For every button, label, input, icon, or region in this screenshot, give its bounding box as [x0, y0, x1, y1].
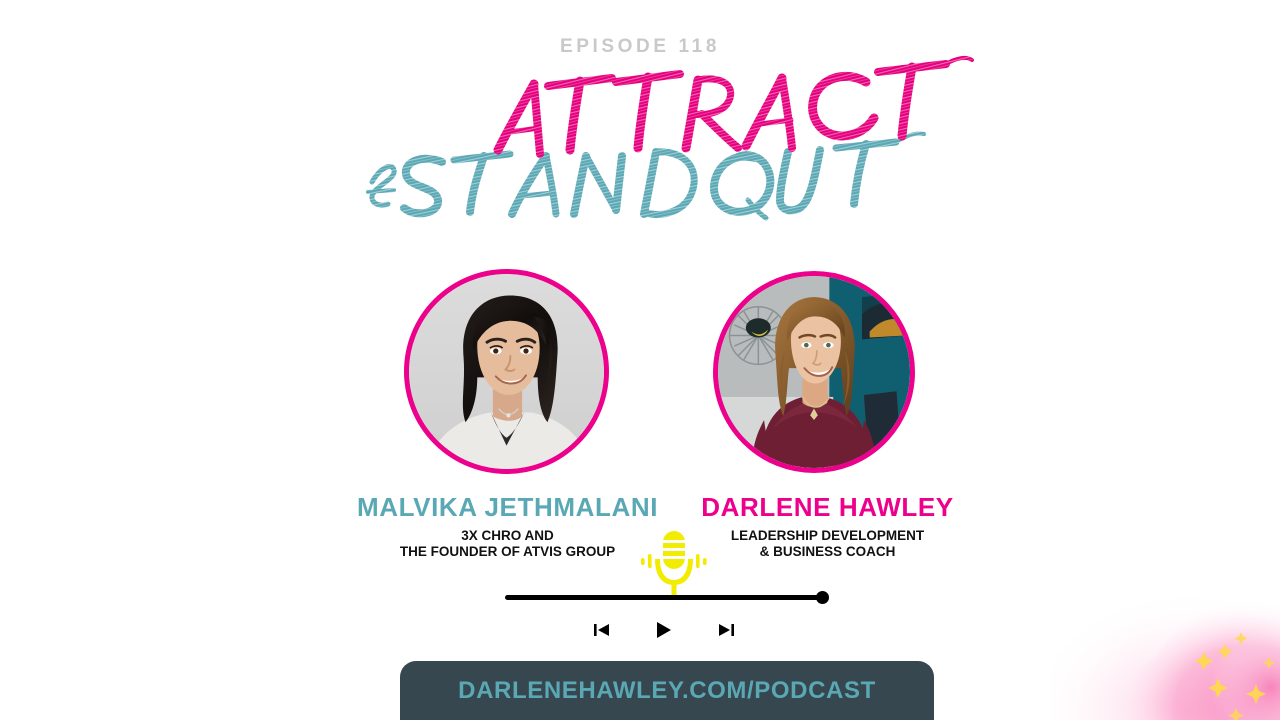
podcast-url-text: DARLENEHAWLEY.COM/PODCAST [458, 677, 876, 705]
previous-track-icon[interactable] [590, 618, 614, 642]
guest-name-2: DARLENE HAWLEY [650, 492, 1005, 523]
avatar-darlene-hawley [713, 271, 915, 473]
sparkle-stars [1195, 632, 1275, 720]
pink-watercolor-corner [1050, 545, 1280, 720]
microphone-icon [641, 528, 707, 596]
avatar-malvika-jethmalani [404, 269, 609, 474]
show-title-artwork [350, 50, 990, 225]
progress-bar-track[interactable] [505, 595, 823, 600]
play-icon[interactable] [652, 618, 676, 642]
progress-bar-knob[interactable] [816, 591, 829, 604]
title-line1-strokes [498, 58, 972, 154]
player-controls [505, 618, 823, 642]
podcast-episode-graphic: EPISODE 118 [0, 0, 1280, 720]
next-track-icon[interactable] [714, 618, 738, 642]
podcast-url-bar[interactable]: DARLENEHAWLEY.COM/PODCAST [400, 661, 934, 720]
title-line2-strokes [368, 133, 924, 218]
